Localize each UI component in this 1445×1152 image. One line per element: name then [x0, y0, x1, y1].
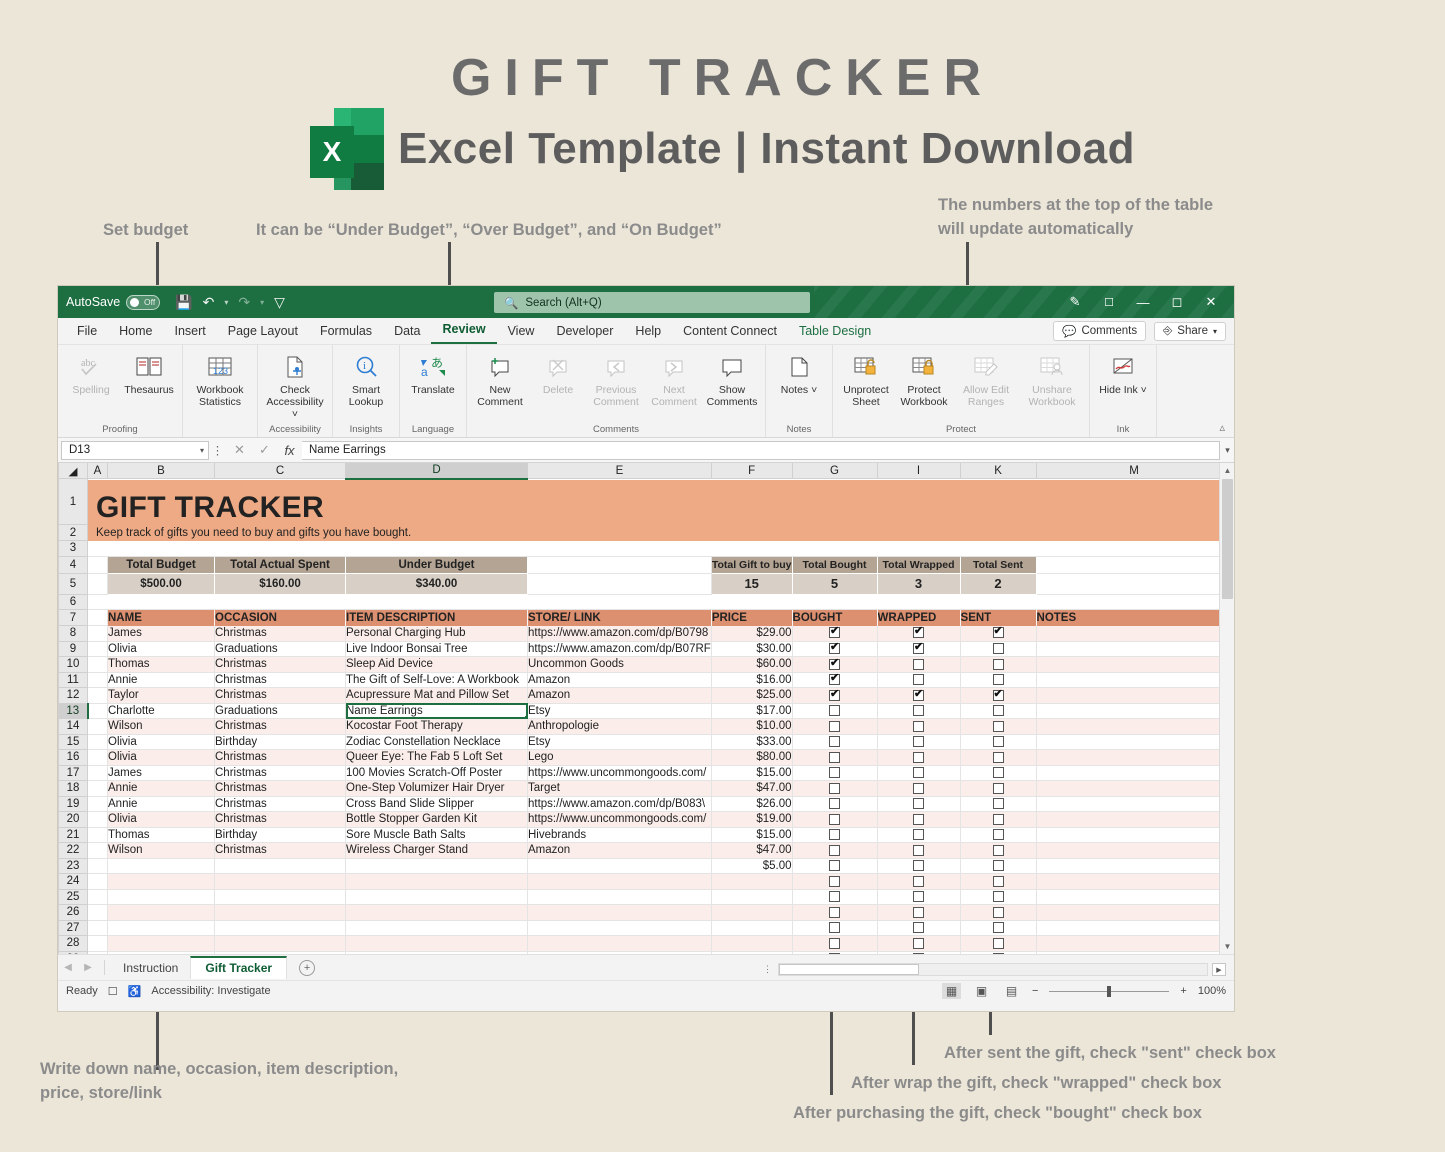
cell-store-link[interactable]: Uncommon Goods: [528, 657, 712, 673]
table-row[interactable]: 15OliviaBirthdayZodiac Constellation Nec…: [59, 734, 1233, 750]
row-header-8[interactable]: 8: [59, 626, 88, 642]
cell-bought-checkbox[interactable]: [829, 705, 840, 716]
cell-sent-checkbox[interactable]: [993, 627, 1004, 638]
cell-bought-checkbox[interactable]: [829, 736, 840, 747]
cell-occasion[interactable]: Christmas: [215, 688, 346, 704]
cell-bought-checkbox[interactable]: [829, 674, 840, 685]
cell-price[interactable]: [711, 936, 792, 952]
cell-name[interactable]: Charlotte: [108, 703, 215, 719]
row-header-7[interactable]: 7: [59, 610, 88, 626]
redo-icon[interactable]: ↷: [238, 294, 250, 311]
row-header-2[interactable]: 2: [59, 525, 88, 541]
cell-store-link[interactable]: https://www.amazon.com/dp/B0798: [528, 626, 712, 642]
table-row[interactable]: 8JamesChristmasPersonal Charging Hubhttp…: [59, 626, 1233, 642]
cell-bought-checkbox[interactable]: [829, 767, 840, 778]
cell-notes[interactable]: [1036, 920, 1232, 936]
cell-notes[interactable]: [1036, 765, 1232, 781]
table-header-item-description[interactable]: ITEM DESCRIPTION: [346, 610, 528, 626]
cell-sent-checkbox[interactable]: [993, 845, 1004, 856]
chevron-down-icon[interactable]: ▾: [200, 446, 204, 455]
table-header-name[interactable]: NAME: [108, 610, 215, 626]
cell-sent-checkbox[interactable]: [993, 767, 1004, 778]
cell-name[interactable]: [108, 905, 215, 921]
cell-item-description[interactable]: The Gift of Self-Love: A Workbook: [346, 672, 528, 688]
autosave-control[interactable]: AutoSave Off: [66, 295, 160, 310]
cell-occasion[interactable]: Christmas: [215, 657, 346, 673]
tab-table-design[interactable]: Table Design: [788, 320, 882, 344]
new-comment-button[interactable]: New Comment: [471, 348, 529, 409]
cell-wrapped-checkbox[interactable]: [913, 643, 924, 654]
cell-sent-checkbox[interactable]: [993, 752, 1004, 763]
cell-sent-checkbox[interactable]: [993, 938, 1004, 949]
zoom-slider[interactable]: [1049, 991, 1169, 992]
cell-store-link[interactable]: [528, 874, 712, 890]
cell-column-a[interactable]: [88, 750, 108, 766]
cell-bought[interactable]: [792, 781, 877, 797]
pen-icon[interactable]: ✎: [1058, 286, 1092, 318]
cell-sent-checkbox[interactable]: [993, 705, 1004, 716]
cell-bought[interactable]: [792, 703, 877, 719]
previous-sheet-icon[interactable]: ◀: [58, 962, 78, 973]
cell-notes[interactable]: [1036, 719, 1232, 735]
cell-occasion[interactable]: Christmas: [215, 765, 346, 781]
previous-comment-button[interactable]: Previous Comment: [587, 348, 645, 409]
cell-occasion[interactable]: [215, 874, 346, 890]
row-header-15[interactable]: 15: [59, 734, 88, 750]
cell-bought[interactable]: [792, 657, 877, 673]
cell-wrapped-checkbox[interactable]: [913, 876, 924, 887]
cell-item-description[interactable]: Name Earrings: [346, 703, 528, 719]
cell-bought[interactable]: [792, 920, 877, 936]
cell-bought[interactable]: [792, 905, 877, 921]
cell-name[interactable]: Annie: [108, 796, 215, 812]
cell-occasion[interactable]: [215, 936, 346, 952]
cell-column-a[interactable]: [88, 796, 108, 812]
store-link[interactable]: https://www.uncommongoods.com/: [528, 813, 706, 825]
tab-insert[interactable]: Insert: [164, 320, 217, 344]
collapse-ribbon-icon[interactable]: ▵: [1219, 421, 1225, 434]
column-header-f[interactable]: F: [711, 463, 792, 479]
cell-notes[interactable]: [1036, 843, 1232, 859]
cell-notes[interactable]: [1036, 703, 1232, 719]
cell-price[interactable]: $47.00: [711, 843, 792, 859]
cell-wrapped-checkbox[interactable]: [913, 938, 924, 949]
cell-notes[interactable]: [1036, 905, 1232, 921]
expand-formula-bar-icon[interactable]: ▾: [1221, 445, 1234, 456]
hide-ink-button[interactable]: Hide Ink ˅: [1094, 348, 1152, 397]
cell-price[interactable]: $30.00: [711, 641, 792, 657]
cell-price[interactable]: $29.00: [711, 626, 792, 642]
row-header-20[interactable]: 20: [59, 812, 88, 828]
cell-column-a[interactable]: [88, 858, 108, 874]
customize-quick-access-icon[interactable]: ▽: [274, 294, 285, 311]
zoom-in-icon[interactable]: +: [1180, 985, 1186, 997]
cell-wrapped[interactable]: [877, 905, 960, 921]
sheet-tab-instruction[interactable]: Instruction: [111, 957, 190, 978]
cell-sent[interactable]: [960, 672, 1036, 688]
tab-file[interactable]: File: [66, 320, 108, 344]
column-header-d[interactable]: D: [346, 463, 528, 479]
cell-bought[interactable]: [792, 796, 877, 812]
table-row[interactable]: 24: [59, 874, 1233, 890]
unprotect-sheet-button[interactable]: Unprotect Sheet: [837, 348, 895, 409]
cell-bought-checkbox[interactable]: [829, 876, 840, 887]
row-header-13[interactable]: 13: [59, 703, 88, 719]
tab-content-connect[interactable]: Content Connect: [672, 320, 788, 344]
column-header-e[interactable]: E: [528, 463, 712, 479]
cell-store-link[interactable]: https://www.amazon.com/dp/B07RF: [528, 641, 712, 657]
cell-item-description[interactable]: Kocostar Foot Therapy: [346, 719, 528, 735]
cell-column-a[interactable]: [88, 672, 108, 688]
select-all-corner[interactable]: ◢: [59, 463, 88, 479]
table-row[interactable]: 18AnnieChristmasOne-Step Volumizer Hair …: [59, 781, 1233, 797]
cell-store-link[interactable]: Hivebrands: [528, 827, 712, 843]
cell-name[interactable]: Annie: [108, 672, 215, 688]
row-header-19[interactable]: 19: [59, 796, 88, 812]
cell-occasion[interactable]: Christmas: [215, 750, 346, 766]
cell-item-description[interactable]: [346, 936, 528, 952]
cell-bought[interactable]: [792, 688, 877, 704]
cell-wrapped-checkbox[interactable]: [913, 736, 924, 747]
cell-bought-checkbox[interactable]: [829, 938, 840, 949]
table-row[interactable]: 13CharlotteGraduationsName EarringsEtsy$…: [59, 703, 1233, 719]
cell-notes[interactable]: [1036, 874, 1232, 890]
autosave-toggle[interactable]: Off: [126, 295, 160, 310]
minimize-icon[interactable]: —: [1126, 286, 1160, 318]
cell-sent[interactable]: [960, 812, 1036, 828]
cell-wrapped-checkbox[interactable]: [913, 814, 924, 825]
table-row[interactable]: 19AnnieChristmasCross Band Slide Slipper…: [59, 796, 1233, 812]
cell-bought-checkbox[interactable]: [829, 860, 840, 871]
table-header-bought[interactable]: BOUGHT: [792, 610, 877, 626]
cell-name[interactable]: [108, 936, 215, 952]
cell-wrapped-checkbox[interactable]: [913, 705, 924, 716]
cell-name[interactable]: Annie: [108, 781, 215, 797]
cell-occasion[interactable]: Christmas: [215, 781, 346, 797]
cell-item-description[interactable]: Queer Eye: The Fab 5 Loft Set: [346, 750, 528, 766]
row-header-22[interactable]: 22: [59, 843, 88, 859]
cell-price[interactable]: [711, 920, 792, 936]
cell-bought[interactable]: [792, 843, 877, 859]
tab-data[interactable]: Data: [383, 320, 431, 344]
cell-wrapped[interactable]: [877, 765, 960, 781]
cell-name[interactable]: Olivia: [108, 812, 215, 828]
cell-wrapped-checkbox[interactable]: [913, 659, 924, 670]
cell-notes[interactable]: [1036, 734, 1232, 750]
cell-notes[interactable]: [1036, 672, 1232, 688]
cell-sent-checkbox[interactable]: [993, 643, 1004, 654]
cell-occasion[interactable]: Birthday: [215, 827, 346, 843]
cell-wrapped[interactable]: [877, 703, 960, 719]
row-header-26[interactable]: 26: [59, 905, 88, 921]
page-layout-view-icon[interactable]: ▣: [972, 983, 991, 999]
cell-notes[interactable]: [1036, 936, 1232, 952]
cell-occasion[interactable]: [215, 905, 346, 921]
cell-name[interactable]: [108, 874, 215, 890]
cell-bought[interactable]: [792, 641, 877, 657]
cell-wrapped[interactable]: [877, 719, 960, 735]
cell-sent[interactable]: [960, 641, 1036, 657]
worksheet-grid[interactable]: ◢ A B C D E F G I K M 1 GIFT TRACKER: [58, 463, 1234, 954]
cell-wrapped-checkbox[interactable]: [913, 767, 924, 778]
cell-store-link[interactable]: Target: [528, 781, 712, 797]
row-header-1[interactable]: 1: [59, 479, 88, 525]
cell-price[interactable]: $80.00: [711, 750, 792, 766]
cell-bought[interactable]: [792, 734, 877, 750]
cell-sent-checkbox[interactable]: [993, 876, 1004, 887]
cell-item-description[interactable]: 100 Movies Scratch-Off Poster: [346, 765, 528, 781]
cell-price[interactable]: $10.00: [711, 719, 792, 735]
scroll-up-icon[interactable]: ▲: [1220, 463, 1234, 478]
cell-sent-checkbox[interactable]: [993, 907, 1004, 918]
zoom-level[interactable]: 100%: [1198, 985, 1226, 997]
cell-wrapped[interactable]: [877, 796, 960, 812]
table-row[interactable]: 10ThomasChristmasSleep Aid DeviceUncommo…: [59, 657, 1233, 673]
cell-price[interactable]: [711, 889, 792, 905]
cell-sent-checkbox[interactable]: [993, 736, 1004, 747]
zoom-out-icon[interactable]: −: [1032, 985, 1038, 997]
cell-column-a[interactable]: [88, 812, 108, 828]
cell-store-link[interactable]: https://www.uncommongoods.com/: [528, 812, 712, 828]
undo-dropdown-icon[interactable]: ▾: [224, 298, 228, 307]
cell-sent[interactable]: [960, 827, 1036, 843]
cell-bought[interactable]: [792, 858, 877, 874]
cell-bought[interactable]: [792, 672, 877, 688]
cell-wrapped[interactable]: [877, 812, 960, 828]
cell-store-link[interactable]: Etsy: [528, 703, 712, 719]
status-accessibility[interactable]: Accessibility: Investigate: [151, 985, 270, 997]
cell-bought-checkbox[interactable]: [829, 627, 840, 638]
cell-notes[interactable]: [1036, 657, 1232, 673]
horizontal-scroll-track[interactable]: [778, 963, 1208, 976]
next-comment-button[interactable]: Next Comment: [645, 348, 703, 409]
cell-sent[interactable]: [960, 765, 1036, 781]
cell-column-a[interactable]: [88, 765, 108, 781]
cell-store-link[interactable]: [528, 858, 712, 874]
search-input[interactable]: 🔍 Search (Alt+Q): [494, 292, 810, 313]
cell-occasion[interactable]: Graduations: [215, 641, 346, 657]
cell-bought-checkbox[interactable]: [829, 829, 840, 840]
row-header-25[interactable]: 25: [59, 889, 88, 905]
cell-notes[interactable]: [1036, 858, 1232, 874]
cell-price[interactable]: $17.00: [711, 703, 792, 719]
row-header-18[interactable]: 18: [59, 781, 88, 797]
table-row[interactable]: 22WilsonChristmasWireless Charger StandA…: [59, 843, 1233, 859]
formula-bar-handle[interactable]: ⋮: [209, 443, 227, 457]
cell-sent-checkbox[interactable]: [993, 922, 1004, 933]
cell-store-link[interactable]: Amazon: [528, 672, 712, 688]
cell-item-description[interactable]: Live Indoor Bonsai Tree: [346, 641, 528, 657]
cell-bought[interactable]: [792, 812, 877, 828]
cell-occasion[interactable]: [215, 920, 346, 936]
cell-wrapped[interactable]: [877, 843, 960, 859]
column-header-i[interactable]: I: [877, 463, 960, 479]
column-header-a[interactable]: A: [88, 463, 108, 479]
table-row[interactable]: 20OliviaChristmasBottle Stopper Garden K…: [59, 812, 1233, 828]
cell-store-link[interactable]: https://www.uncommongoods.com/: [528, 765, 712, 781]
cell-sent[interactable]: [960, 920, 1036, 936]
table-row[interactable]: 26: [59, 905, 1233, 921]
cell-name[interactable]: James: [108, 765, 215, 781]
cell-bought[interactable]: [792, 827, 877, 843]
row-header-28[interactable]: 28: [59, 936, 88, 952]
allow-edit-ranges-button[interactable]: Allow Edit Ranges: [953, 348, 1019, 409]
row-header-11[interactable]: 11: [59, 672, 88, 688]
cell-name[interactable]: Wilson: [108, 719, 215, 735]
name-box[interactable]: D13 ▾: [61, 441, 209, 460]
normal-view-icon[interactable]: ▦: [942, 983, 961, 999]
cell-bought-checkbox[interactable]: [829, 659, 840, 670]
spelling-button[interactable]: abc Spelling: [62, 348, 120, 397]
notes-button[interactable]: Notes ˅: [770, 348, 828, 397]
undo-icon[interactable]: ↶: [203, 294, 215, 311]
tab-page-layout[interactable]: Page Layout: [217, 320, 309, 344]
redo-dropdown-icon[interactable]: ▾: [260, 298, 264, 307]
cell-notes[interactable]: [1036, 781, 1232, 797]
cell-item-description[interactable]: Personal Charging Hub: [346, 626, 528, 642]
cell-sent-checkbox[interactable]: [993, 829, 1004, 840]
sheet-tab-gift-tracker[interactable]: Gift Tracker: [190, 956, 287, 979]
cell-store-link[interactable]: [528, 889, 712, 905]
cell-occasion[interactable]: Christmas: [215, 812, 346, 828]
cell-occasion[interactable]: [215, 858, 346, 874]
tab-home[interactable]: Home: [108, 320, 163, 344]
horizontal-scroll-thumb[interactable]: [779, 964, 919, 975]
cell-sent-checkbox[interactable]: [993, 659, 1004, 670]
save-icon[interactable]: 💾: [175, 294, 192, 311]
cell-wrapped-checkbox[interactable]: [913, 860, 924, 871]
cell-column-a[interactable]: [88, 874, 108, 890]
row-header-27[interactable]: 27: [59, 920, 88, 936]
cell-bought-checkbox[interactable]: [829, 922, 840, 933]
row-header-6[interactable]: 6: [59, 594, 88, 610]
row-header-9[interactable]: 9: [59, 641, 88, 657]
column-header-b[interactable]: B: [108, 463, 215, 479]
table-row[interactable]: 17JamesChristmas100 Movies Scratch-Off P…: [59, 765, 1233, 781]
cell-notes[interactable]: [1036, 626, 1232, 642]
cell-sent[interactable]: [960, 889, 1036, 905]
cell-wrapped-checkbox[interactable]: [913, 627, 924, 638]
cell-price[interactable]: $33.00: [711, 734, 792, 750]
add-sheet-button[interactable]: +: [299, 960, 315, 976]
cell-bought-checkbox[interactable]: [829, 752, 840, 763]
cell-column-a[interactable]: [88, 920, 108, 936]
cell-sent-checkbox[interactable]: [993, 690, 1004, 701]
cell-occasion[interactable]: Christmas: [215, 796, 346, 812]
cell-occasion[interactable]: Christmas: [215, 672, 346, 688]
cell-price[interactable]: $19.00: [711, 812, 792, 828]
smart-lookup-button[interactable]: i Smart Lookup: [337, 348, 395, 409]
cell-column-a[interactable]: [88, 734, 108, 750]
table-header-store-link[interactable]: STORE/ LINK: [528, 610, 712, 626]
cell-notes[interactable]: [1036, 750, 1232, 766]
cell-name[interactable]: Wilson: [108, 843, 215, 859]
row-header-21[interactable]: 21: [59, 827, 88, 843]
row-header-3[interactable]: 3: [59, 541, 88, 557]
table-header-sent[interactable]: SENT: [960, 610, 1036, 626]
row-header-14[interactable]: 14: [59, 719, 88, 735]
table-row[interactable]: 27: [59, 920, 1233, 936]
cell-wrapped[interactable]: [877, 889, 960, 905]
cell-sent-checkbox[interactable]: [993, 860, 1004, 871]
store-link[interactable]: https://www.amazon.com/dp/B07RF: [528, 643, 711, 655]
cell-occasion[interactable]: Graduations: [215, 703, 346, 719]
cell-price[interactable]: $15.00: [711, 765, 792, 781]
cell-wrapped[interactable]: [877, 920, 960, 936]
cell-wrapped-checkbox[interactable]: [913, 907, 924, 918]
cell-item-description[interactable]: [346, 905, 528, 921]
cell-column-a[interactable]: [88, 827, 108, 843]
maximize-icon[interactable]: ◻: [1160, 286, 1194, 318]
cell-store-link[interactable]: [528, 920, 712, 936]
cell-sent[interactable]: [960, 688, 1036, 704]
cell-bought-checkbox[interactable]: [829, 721, 840, 732]
cell-sent[interactable]: [960, 781, 1036, 797]
store-link[interactable]: https://www.uncommongoods.com/: [528, 767, 706, 779]
cell-sent-checkbox[interactable]: [993, 891, 1004, 902]
cell-store-link[interactable]: Etsy: [528, 734, 712, 750]
cell-column-a[interactable]: [88, 688, 108, 704]
cell-item-description[interactable]: One-Step Volumizer Hair Dryer: [346, 781, 528, 797]
cell-sent[interactable]: [960, 796, 1036, 812]
cell-store-link[interactable]: Anthropologie: [528, 719, 712, 735]
cell-item-description[interactable]: [346, 874, 528, 890]
cell-price[interactable]: $26.00: [711, 796, 792, 812]
tab-review[interactable]: Review: [431, 318, 496, 344]
cell-store-link[interactable]: Amazon: [528, 843, 712, 859]
store-link[interactable]: https://www.amazon.com/dp/B0798: [528, 627, 708, 639]
table-header-notes[interactable]: NOTES: [1036, 610, 1232, 626]
row-header-24[interactable]: 24: [59, 874, 88, 890]
cell-name[interactable]: [108, 920, 215, 936]
cell-bought[interactable]: [792, 765, 877, 781]
cell-sent[interactable]: [960, 657, 1036, 673]
cell-occasion[interactable]: Christmas: [215, 719, 346, 735]
vertical-scroll-thumb[interactable]: [1222, 479, 1233, 599]
cell-wrapped[interactable]: [877, 750, 960, 766]
table-header-occasion[interactable]: OCCASION: [215, 610, 346, 626]
cell-bought-checkbox[interactable]: [829, 907, 840, 918]
check-accessibility-button[interactable]: Check Accessibility ˅: [262, 348, 328, 420]
cell-column-a[interactable]: [88, 889, 108, 905]
cell-column-a[interactable]: [88, 905, 108, 921]
cell-name[interactable]: James: [108, 626, 215, 642]
cell-store-link[interactable]: Amazon: [528, 688, 712, 704]
zoom-slider-knob[interactable]: [1107, 986, 1111, 997]
cell-wrapped[interactable]: [877, 734, 960, 750]
cell-column-a[interactable]: [88, 843, 108, 859]
cell-notes[interactable]: [1036, 827, 1232, 843]
cell-notes[interactable]: [1036, 641, 1232, 657]
cell-item-description[interactable]: [346, 858, 528, 874]
cell-wrapped-checkbox[interactable]: [913, 690, 924, 701]
comments-button[interactable]: 💬 Comments: [1053, 321, 1146, 341]
cell-wrapped[interactable]: [877, 641, 960, 657]
enter-icon[interactable]: ✓: [252, 442, 277, 458]
row-header-23[interactable]: 23: [59, 858, 88, 874]
column-header-m[interactable]: M: [1036, 463, 1232, 479]
row-header-16[interactable]: 16: [59, 750, 88, 766]
cell-item-description[interactable]: Wireless Charger Stand: [346, 843, 528, 859]
table-row[interactable]: 14WilsonChristmasKocostar Foot TherapyAn…: [59, 719, 1233, 735]
protect-workbook-button[interactable]: Protect Workbook: [895, 348, 953, 409]
cell-price[interactable]: $16.00: [711, 672, 792, 688]
cell-item-description[interactable]: Bottle Stopper Garden Kit: [346, 812, 528, 828]
cell-wrapped[interactable]: [877, 688, 960, 704]
column-header-k[interactable]: K: [960, 463, 1036, 479]
cell-price[interactable]: [711, 874, 792, 890]
cell-item-description[interactable]: Zodiac Constellation Necklace: [346, 734, 528, 750]
